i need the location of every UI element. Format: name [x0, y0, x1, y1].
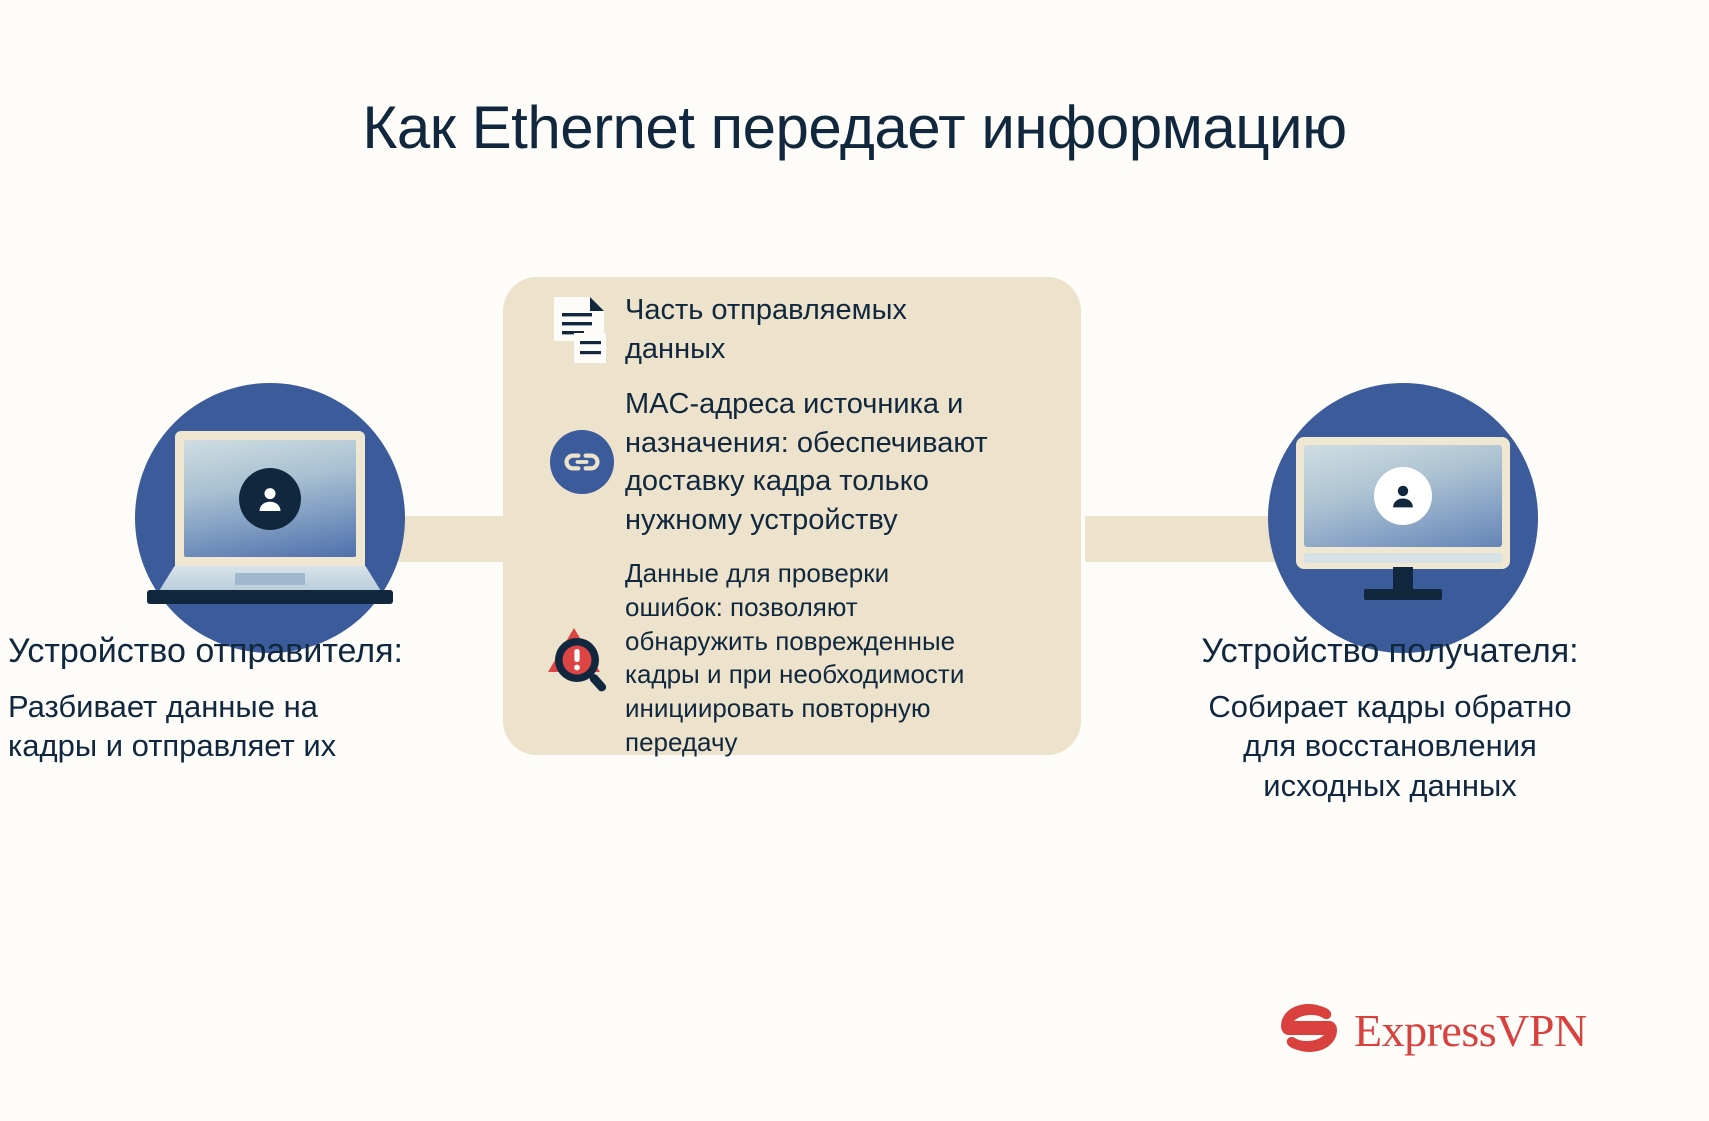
- laptop-base: [147, 590, 393, 604]
- monitor-icon: [1296, 437, 1510, 605]
- receiver-caption-heading: Устройство получателя:: [1090, 630, 1690, 673]
- monitor-screen: [1304, 445, 1502, 547]
- frame-bullet-mac-addresses: MAC-адреса источника и назначения: обесп…: [539, 385, 1079, 539]
- infographic-canvas: Как Ethernet передает информацию: [0, 0, 1709, 1121]
- user-avatar-icon: [1374, 467, 1432, 525]
- sender-caption-body: Разбивает данные на кадры и отправляет и…: [8, 687, 498, 766]
- frame-bullet-text: Часть отправляемых данных: [625, 291, 907, 368]
- monitor-neck: [1393, 567, 1413, 591]
- laptop-screen: [184, 440, 356, 557]
- monitor-foot: [1364, 589, 1442, 600]
- document-icon: [539, 293, 625, 367]
- frame-bullet-payload: Часть отправляемых данных: [539, 291, 1079, 368]
- receiver-device-illustration: [1268, 383, 1538, 653]
- user-avatar-icon: [239, 468, 301, 530]
- expressvpn-logo: ExpressVPN: [1278, 1000, 1587, 1061]
- link-chain-icon: [539, 430, 625, 494]
- frame-bullet-error-check: Данные для проверки ошибок: позволяют об…: [539, 557, 1079, 760]
- sender-device-illustration: [135, 383, 405, 653]
- error-magnifier-icon: [539, 620, 625, 696]
- expressvpn-e-mark-icon: [1278, 1000, 1340, 1061]
- monitor-body: [1296, 437, 1510, 569]
- frame-bullet-text: MAC-адреса источника и назначения: обесп…: [625, 385, 988, 539]
- connector-bar-right: [1085, 516, 1280, 562]
- laptop-trackpad: [235, 573, 305, 585]
- page-title: Как Ethernet передает информацию: [0, 95, 1709, 161]
- sender-caption-heading: Устройство отправителя:: [8, 630, 498, 673]
- laptop-icon: [147, 431, 393, 606]
- frame-bullet-text: Данные для проверки ошибок: позволяют об…: [625, 557, 964, 760]
- frame-contents-panel: Часть отправляемых данных MAC-адреса ист…: [503, 277, 1081, 755]
- laptop-lid: [175, 431, 365, 568]
- expressvpn-logo-text: ExpressVPN: [1354, 1004, 1587, 1057]
- receiver-caption: Устройство получателя: Собирает кадры об…: [1090, 630, 1690, 806]
- link-chain-badge: [550, 430, 614, 494]
- sender-caption: Устройство отправителя: Разбивает данные…: [8, 630, 498, 766]
- receiver-caption-body: Собирает кадры обратно для восстановлени…: [1090, 687, 1690, 806]
- monitor-chin: [1304, 553, 1502, 563]
